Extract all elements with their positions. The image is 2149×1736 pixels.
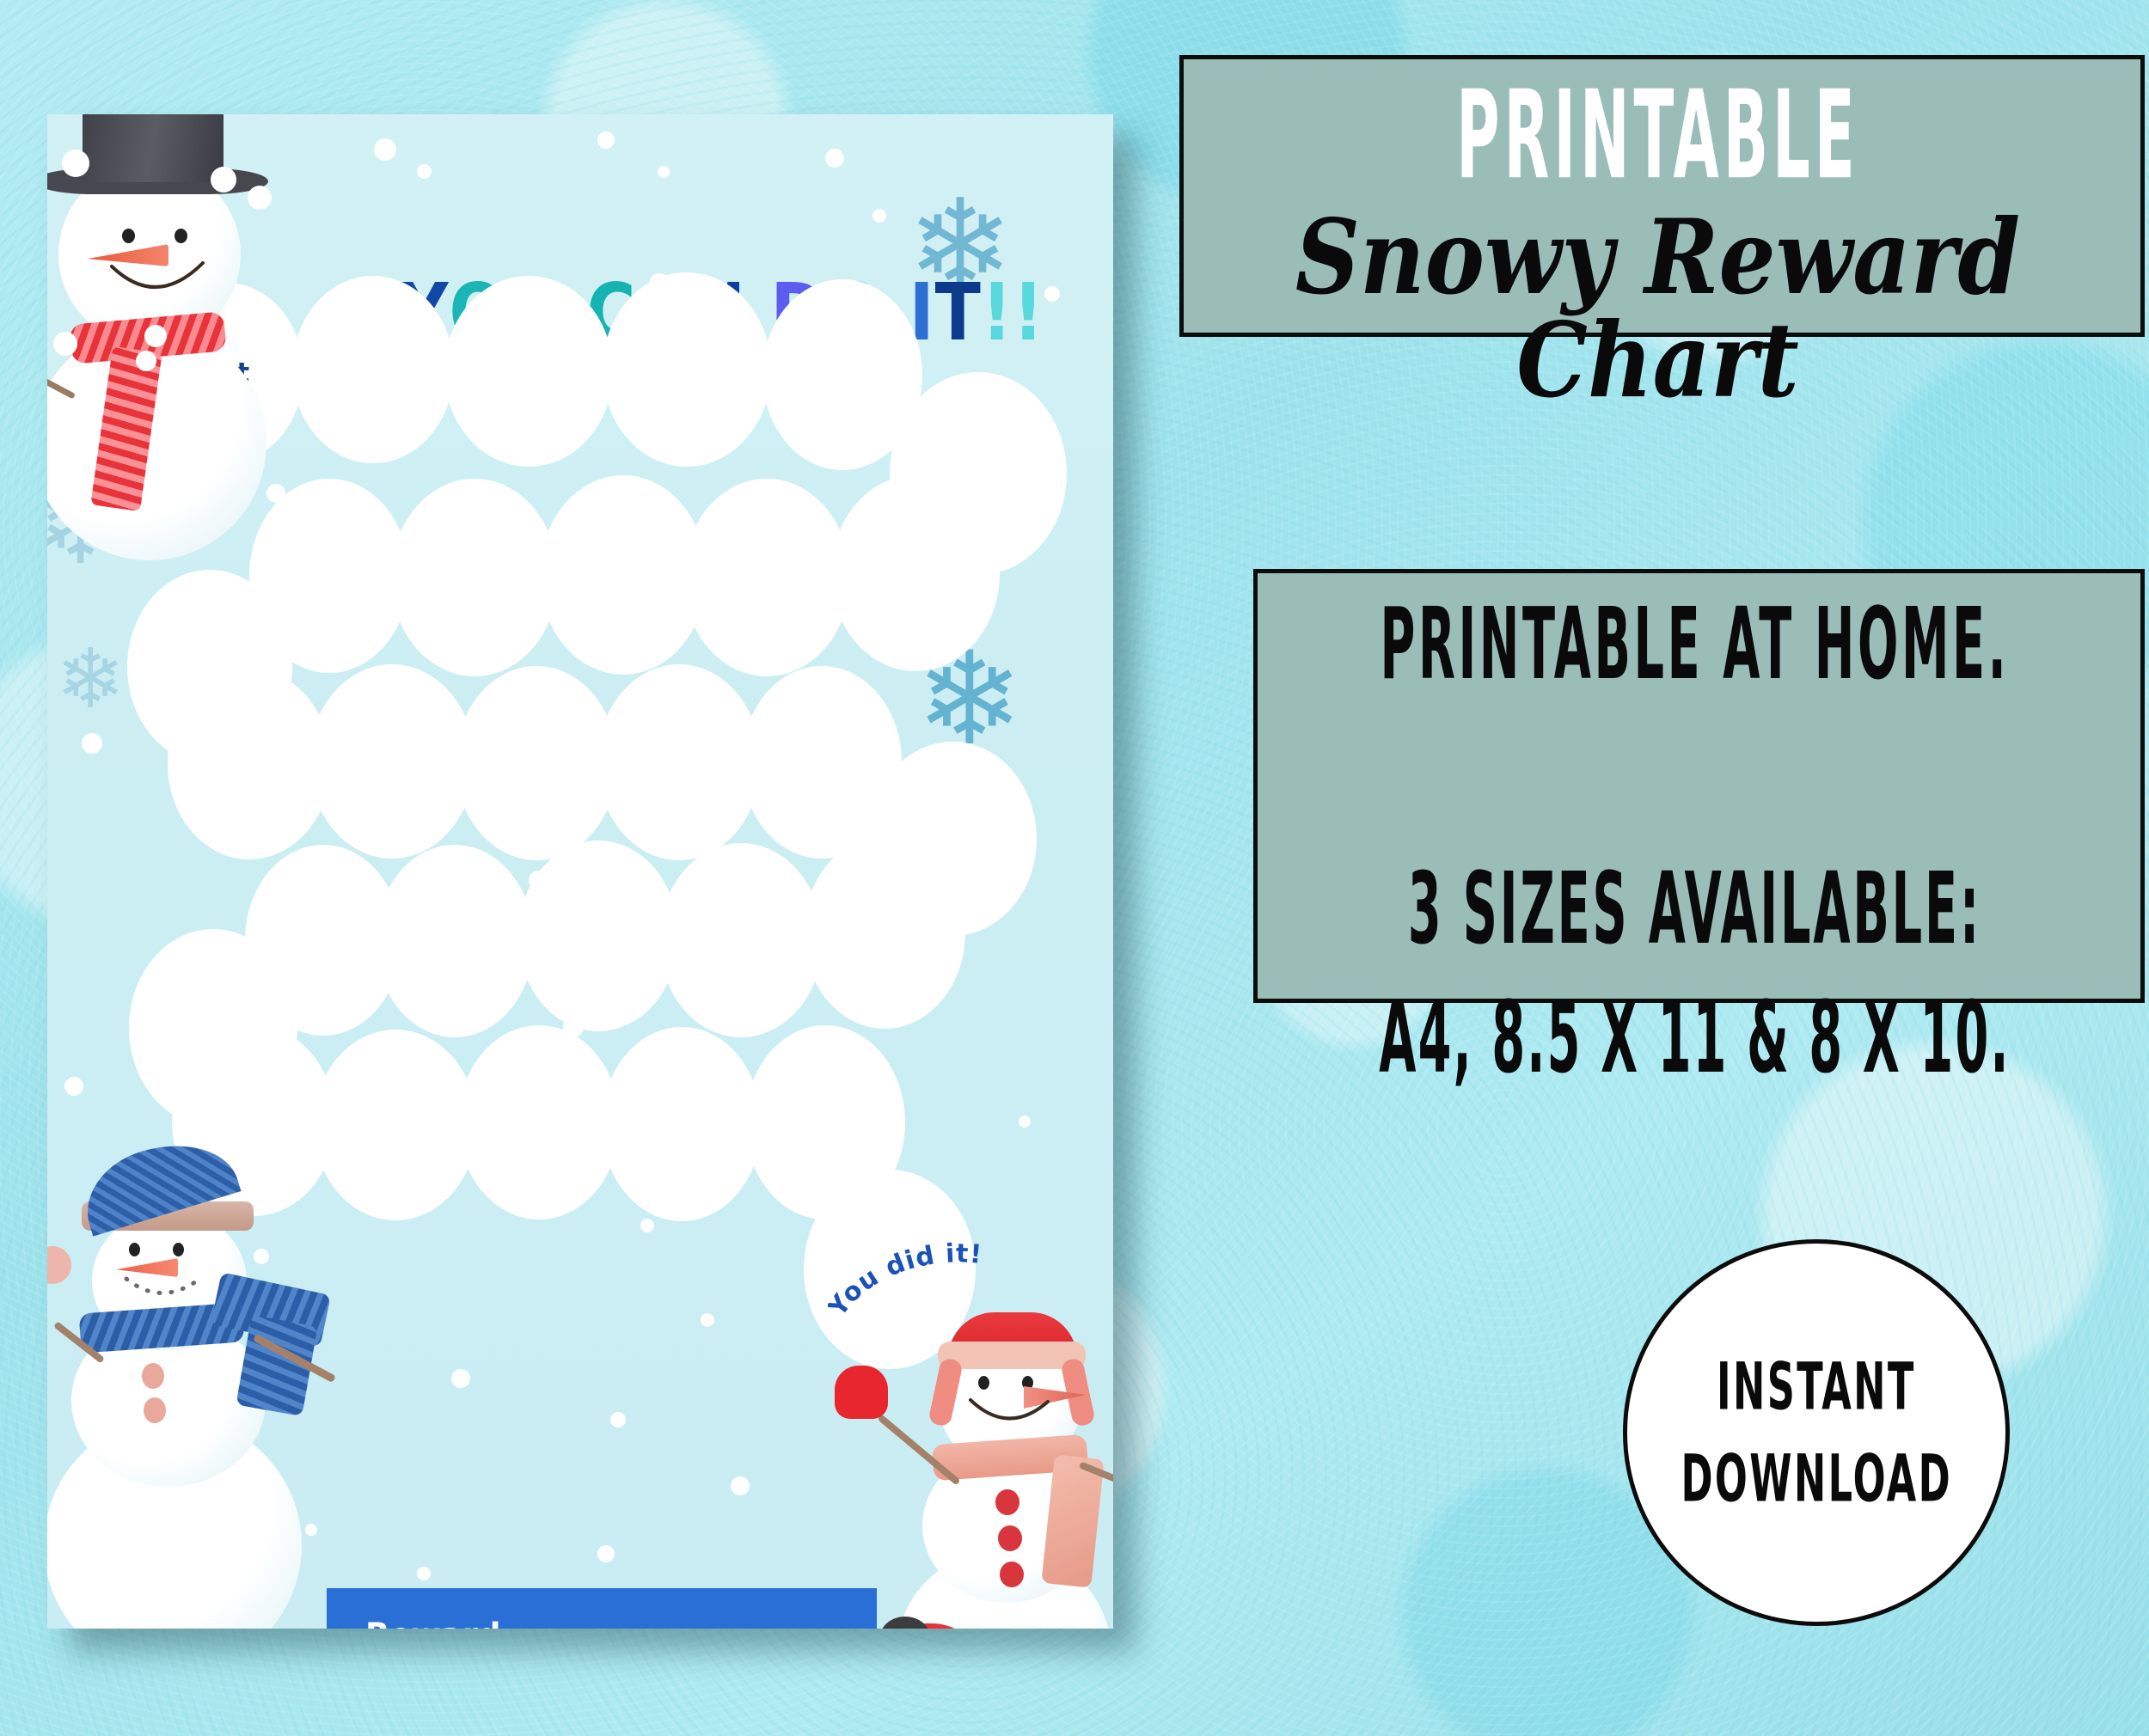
snow-fleck (211, 167, 236, 193)
snowman-red-hat (855, 1317, 1113, 1629)
snowball-step[interactable] (831, 475, 1000, 671)
snow-fleck (53, 332, 77, 356)
snow-fleck (825, 149, 844, 168)
snow-fleck (640, 1219, 654, 1232)
snow-fleck (417, 1567, 431, 1580)
snowflake-icon: ❄ (56, 639, 125, 721)
snow-fleck (64, 1077, 83, 1096)
snowball-step[interactable] (458, 1025, 620, 1219)
snowball-step[interactable] (597, 664, 761, 860)
detail-line-sizes-available: 3 SIZES AVAILABLE: (1377, 852, 2012, 967)
snow-fleck (82, 733, 102, 754)
snowman-button (1000, 1562, 1024, 1587)
snow-fleck (62, 150, 89, 177)
snow-fleck (417, 164, 432, 179)
snow-fleck (1019, 1116, 1031, 1128)
snow-fleck (144, 325, 167, 347)
snowball-step[interactable] (683, 479, 850, 676)
svg-text:You did it!: You did it! (828, 1238, 983, 1323)
snow-fleck (451, 1369, 470, 1388)
snowman-eye (129, 1243, 140, 1256)
snowball-step[interactable] (391, 479, 558, 676)
snowball-step[interactable] (540, 475, 707, 675)
snow-fleck (731, 1476, 750, 1495)
snow-fleck (610, 1412, 626, 1427)
reward-label: Reward (365, 1617, 500, 1629)
printable-headline: PRINTABLE (1313, 75, 2002, 197)
finish-label-text: You did it! (828, 1238, 983, 1323)
detail-line-size-list: A4, 8.5 X 11 & 8 X 10. (1377, 981, 2012, 1096)
snow-fleck (872, 209, 886, 223)
title-letter: ! (982, 267, 1013, 358)
bullfinch-bird (872, 1610, 993, 1629)
snow-fleck (597, 1545, 615, 1562)
product-script-title: Snowy Reward Chart (1179, 206, 2136, 412)
snowball-step[interactable] (602, 1027, 762, 1221)
snowball-step[interactable] (518, 840, 678, 1031)
snowman-eye (174, 229, 187, 243)
snowman-button (142, 1363, 164, 1389)
snow-fleck (136, 351, 156, 371)
snowman-blue-hat (47, 1184, 391, 1629)
snowball-step[interactable] (444, 276, 613, 467)
snowman-smile (107, 261, 210, 313)
snow-fleck (76, 215, 95, 234)
snow-fleck (1044, 286, 1060, 302)
badge-line-instant: INSTANT (1717, 1348, 1916, 1425)
top-hat-crown (83, 114, 223, 182)
title-letter: ! (1013, 267, 1044, 358)
detail-line-printable-at-home: PRINTABLE AT HOME. (1377, 587, 2012, 702)
snow-fleck (248, 186, 272, 210)
snowball-step[interactable] (804, 836, 965, 1029)
snowman-eye (173, 1243, 184, 1256)
snow-fleck (701, 1313, 714, 1327)
red-mitten (835, 1366, 888, 1419)
snowman-eye (978, 1376, 989, 1390)
snowman-button (144, 1397, 166, 1423)
snow-fleck (597, 131, 615, 149)
snowman-smile (967, 1397, 1053, 1440)
cap-pompom (47, 1246, 71, 1284)
bird-head (879, 1617, 931, 1629)
snow-fleck (658, 166, 670, 178)
snowman-button (995, 1489, 1019, 1515)
badge-line-download: DOWNLOAD (1681, 1440, 1952, 1517)
snowman-eye (122, 229, 135, 243)
snowball-step[interactable] (168, 669, 331, 859)
snowman-top-hat (47, 114, 327, 583)
snowman-button (998, 1525, 1022, 1551)
snowball-step[interactable] (309, 664, 474, 859)
title-letter: T (935, 267, 982, 358)
snowball-step[interactable] (456, 666, 617, 860)
snowball-step[interactable] (659, 843, 823, 1037)
snowball-step[interactable] (603, 272, 771, 467)
snow-fleck (374, 138, 396, 161)
instant-download-badge[interactable]: INSTANT DOWNLOAD (1623, 1239, 2010, 1626)
reward-chart-card: ❄ ❄ ❄ ❄ ❄ YOU CAN DO IT!! Start (47, 114, 1113, 1629)
